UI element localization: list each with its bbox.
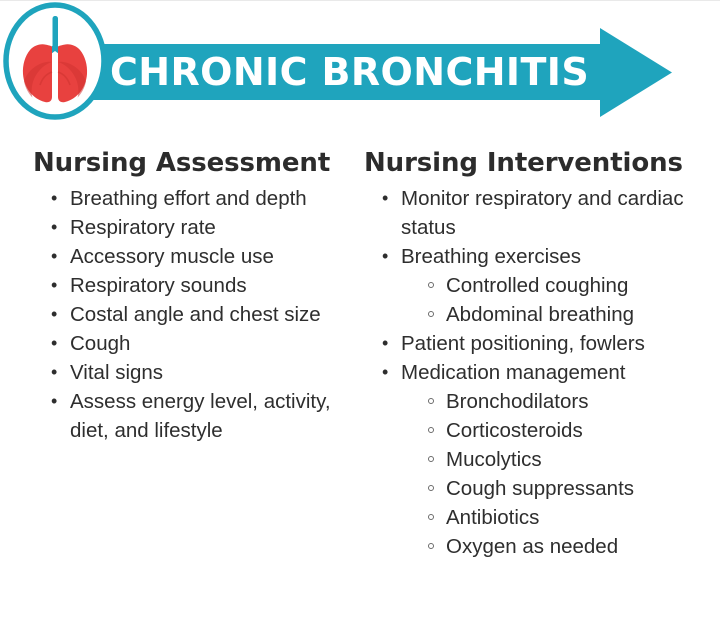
sub-list-item[interactable]: Cough suppressants	[426, 474, 712, 503]
content-columns: Nursing Assessment Breathing effort and …	[0, 148, 720, 634]
list-item[interactable]: Costal angle and chest size	[49, 300, 346, 329]
list-item-label: Respiratory rate	[70, 213, 346, 242]
sub-list-item-label: Antibiotics	[446, 503, 712, 532]
sub-list-item-label: Cough suppressants	[446, 474, 712, 503]
list-item[interactable]: Cough	[49, 329, 346, 358]
list-item[interactable]: Respiratory rate	[49, 213, 346, 242]
assessment-list: Breathing effort and depth Respiratory r…	[33, 184, 346, 445]
list-item-label: Medication management	[401, 358, 712, 387]
list-item[interactable]: Respiratory sounds	[49, 271, 346, 300]
sub-list-item[interactable]: Antibiotics	[426, 503, 712, 532]
list-item-label: Cough	[70, 329, 346, 358]
sub-list-item-label: Abdominal breathing	[446, 300, 712, 329]
list-item-label: Monitor respiratory and cardiac status	[401, 184, 712, 242]
list-item[interactable]: Breathing effort and depth	[49, 184, 346, 213]
interventions-list: Monitor respiratory and cardiac status B…	[364, 184, 712, 561]
list-item[interactable]: Accessory muscle use	[49, 242, 346, 271]
sub-list-item[interactable]: Mucolytics	[426, 445, 712, 474]
list-item[interactable]: Patient positioning, fowlers	[380, 329, 712, 358]
list-item-label: Breathing exercises	[401, 242, 712, 271]
list-item-label: Respiratory sounds	[70, 271, 346, 300]
list-item-label: Vital signs	[70, 358, 346, 387]
sub-list-item[interactable]: Oxygen as needed	[426, 532, 712, 561]
list-item-label: Breathing effort and depth	[70, 184, 346, 213]
list-item[interactable]: Medication management Bronchodilators Co…	[380, 358, 712, 561]
list-item-label: Accessory muscle use	[70, 242, 346, 271]
list-item[interactable]: Assess energy level, activity, diet, and…	[49, 387, 346, 445]
sub-list-item[interactable]: Corticosteroids	[426, 416, 712, 445]
column-nursing-assessment: Nursing Assessment Breathing effort and …	[0, 148, 352, 634]
sub-list-item-label: Mucolytics	[446, 445, 712, 474]
list-item[interactable]: Monitor respiratory and cardiac status	[380, 184, 712, 242]
sublist-medication-management: Bronchodilators Corticosteroids Mucolyti…	[401, 387, 712, 561]
sub-list-item-label: Oxygen as needed	[446, 532, 712, 561]
column-heading-interventions: Nursing Interventions	[364, 148, 712, 178]
sublist-breathing-exercises: Controlled coughing Abdominal breathing	[401, 271, 712, 329]
sub-list-item-label: Controlled coughing	[446, 271, 712, 300]
list-item-label: Costal angle and chest size	[70, 300, 346, 329]
header-banner: CHRONIC BRONCHITIS	[0, 0, 720, 140]
sub-list-item[interactable]: Controlled coughing	[426, 271, 712, 300]
sub-list-item-label: Bronchodilators	[446, 387, 712, 416]
column-nursing-interventions: Nursing Interventions Monitor respirator…	[352, 148, 720, 634]
sub-list-item-label: Corticosteroids	[446, 416, 712, 445]
banner-title: CHRONIC BRONCHITIS	[110, 42, 580, 102]
sub-list-item[interactable]: Abdominal breathing	[426, 300, 712, 329]
list-item-label: Patient positioning, fowlers	[401, 329, 712, 358]
list-item[interactable]: Breathing exercises Controlled coughing …	[380, 242, 712, 329]
sub-list-item[interactable]: Bronchodilators	[426, 387, 712, 416]
column-heading-assessment: Nursing Assessment	[33, 148, 346, 178]
list-item-label: Assess energy level, activity, diet, and…	[70, 387, 346, 445]
list-item[interactable]: Vital signs	[49, 358, 346, 387]
